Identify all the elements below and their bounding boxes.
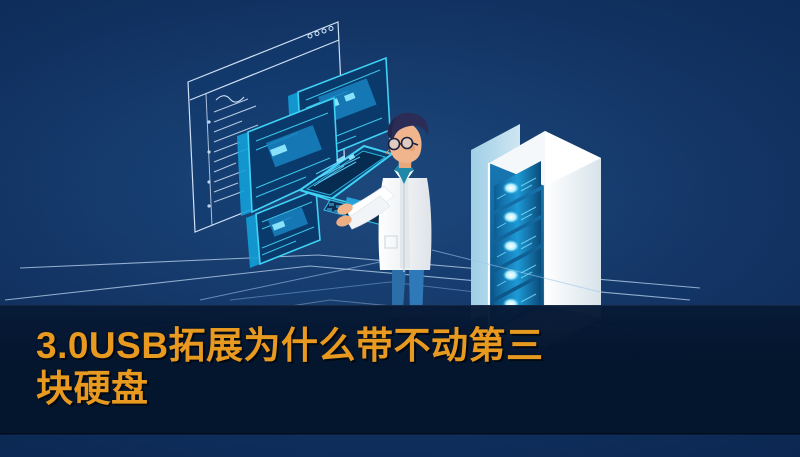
cover-image: 3.0USB拓展为什么带不动第三 块硬盘 [0, 0, 800, 457]
caption-band-top-edge [0, 305, 800, 306]
server-rack [471, 0, 601, 347]
cover-title-line-2: 块硬盘 [36, 367, 336, 410]
cover-title: 3.0USB拓展为什么带不动第三 块硬盘 [36, 324, 736, 410]
cover-title-line-1: 3.0USB拓展为什么带不动第三 [36, 324, 736, 367]
caption-band-bottom-edge [0, 433, 800, 435]
